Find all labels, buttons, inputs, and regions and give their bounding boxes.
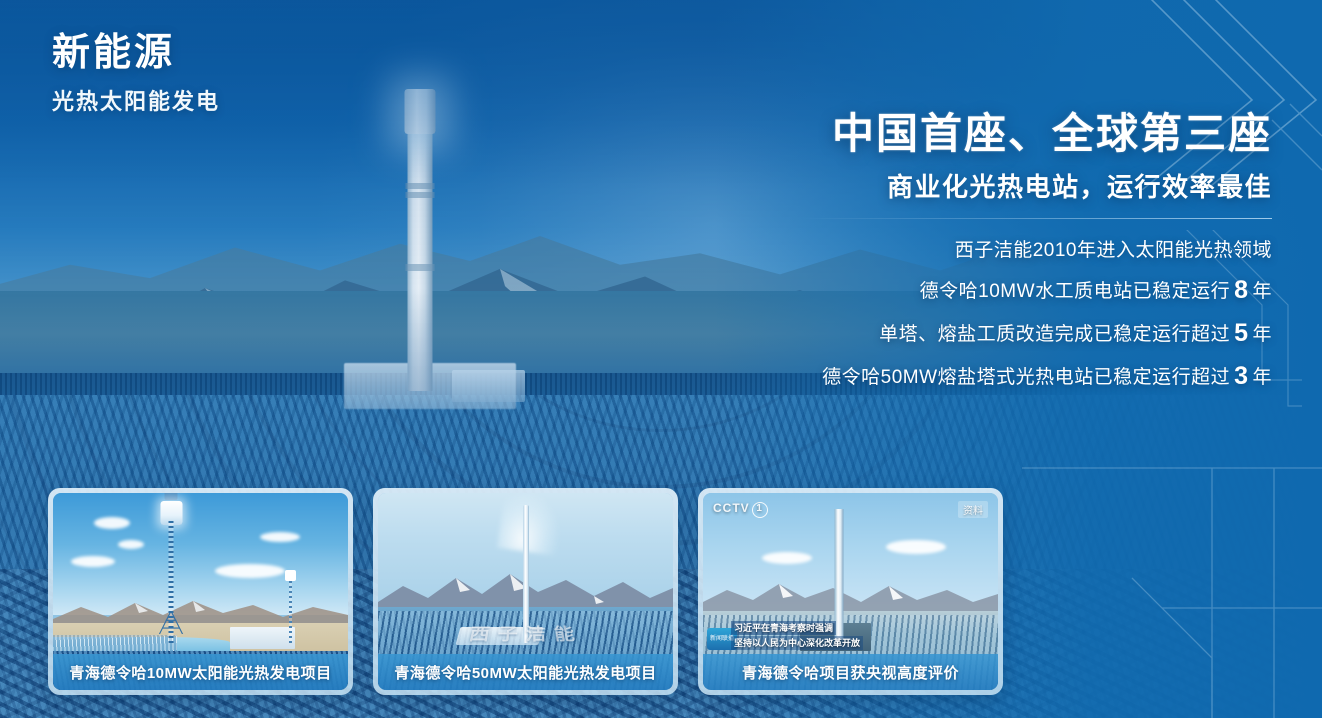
fact-number: 5 bbox=[1230, 319, 1252, 347]
chevron-decoration-bottom-right bbox=[1022, 458, 1322, 718]
photo3-mountains bbox=[703, 576, 998, 615]
fact-item: 单塔、熔盐工质改造完成已稳定运行超过5年 bbox=[632, 312, 1272, 355]
project-card-2-caption: 青海德令哈50MW太阳能光热发电项目 bbox=[378, 654, 673, 690]
photo1-power-block bbox=[230, 627, 295, 649]
fact-text: 德令哈10MW水工质电站已稳定运行 bbox=[920, 281, 1230, 302]
project-card-2-photo: 西子洁能 青海德令哈50MW太阳能光热发电项目 bbox=[378, 493, 673, 690]
slide-title-block: 新能源 光热太阳能发电 bbox=[52, 30, 220, 116]
project-card-3-photo: CCTV1 资料 新闻联播 习近平在青海考察时强调 坚持以人民为中心深化改革开放… bbox=[703, 493, 998, 690]
headline-block: 中国首座、全球第三座 商业化光热电站，运行效率最佳 bbox=[632, 108, 1272, 219]
cctv-lower-third-line2-wrap: 坚持以人民为中心深化改革开放 bbox=[731, 635, 990, 650]
cctv-lower-third: 习近平在青海考察时强调 坚持以人民为中心深化改革开放 bbox=[731, 621, 990, 650]
photo1-tower-main bbox=[169, 521, 174, 643]
photo1-tower-legs bbox=[156, 611, 187, 643]
fact-unit: 年 bbox=[1252, 281, 1272, 302]
project-card-1[interactable]: 青海德令哈10MW太阳能光热发电项目 bbox=[48, 488, 353, 695]
fact-item: 德令哈50MW熔盐塔式光热电站已稳定运行超过3年 bbox=[632, 355, 1272, 398]
fact-number: 3 bbox=[1230, 362, 1252, 390]
fact-number: 8 bbox=[1230, 276, 1252, 304]
photo1-cloud-3 bbox=[71, 556, 115, 567]
page-subtitle: 光热太阳能发电 bbox=[52, 84, 220, 116]
cctv-channel-number: 1 bbox=[752, 502, 768, 518]
fact-item: 西子洁能2010年进入太阳能光热领域 bbox=[632, 232, 1272, 269]
photo3-tower bbox=[834, 509, 843, 639]
cctv-channel-logo: CCTV1 bbox=[713, 501, 768, 518]
fact-list: 西子洁能2010年进入太阳能光热领域德令哈10MW水工质电站已稳定运行8年单塔、… bbox=[632, 232, 1272, 398]
cctv-lower-third-line1-wrap: 习近平在青海考察时强调 bbox=[731, 621, 990, 635]
photo3-cloud-1 bbox=[762, 552, 812, 564]
page-title: 新能源 bbox=[52, 30, 220, 78]
cctv-logo-text: CCTV bbox=[713, 501, 750, 515]
photo1-tower-secondary bbox=[289, 576, 292, 643]
fact-item: 德令哈10MW水工质电站已稳定运行8年 bbox=[632, 269, 1272, 312]
headline-divider bbox=[802, 218, 1272, 219]
project-card-1-caption: 青海德令哈10MW太阳能光热发电项目 bbox=[53, 654, 348, 690]
headline-primary: 中国首座、全球第三座 bbox=[632, 108, 1272, 159]
project-card-list: 青海德令哈10MW太阳能光热发电项目 西子洁能 青海德令哈50MW太 bbox=[48, 488, 1003, 695]
presentation-slide: 新能源 光热太阳能发电 中国首座、全球第三座 商业化光热电站，运行效率最佳 西子… bbox=[0, 0, 1322, 718]
fact-unit: 年 bbox=[1252, 367, 1272, 388]
project-card-3[interactable]: CCTV1 资料 新闻联播 习近平在青海考察时强调 坚持以人民为中心深化改革开放… bbox=[698, 488, 1003, 695]
photo1-cloud-4 bbox=[215, 564, 285, 578]
photo1-cloud-1 bbox=[94, 517, 130, 529]
fact-text: 西子洁能2010年进入太阳能光热领域 bbox=[955, 240, 1272, 261]
fact-text: 德令哈50MW熔盐塔式光热电站已稳定运行超过 bbox=[822, 367, 1230, 388]
project-card-1-photo: 青海德令哈10MW太阳能光热发电项目 bbox=[53, 493, 348, 690]
fact-text: 单塔、熔盐工质改造完成已稳定运行超过 bbox=[879, 324, 1230, 345]
project-card-2[interactable]: 西子洁能 青海德令哈50MW太阳能光热发电项目 bbox=[373, 488, 678, 695]
cctv-lower-third-line2: 坚持以人民为中心深化改革开放 bbox=[731, 636, 863, 650]
photo2-light-plume bbox=[496, 493, 564, 556]
cctv-lower-third-line1: 习近平在青海考察时强调 bbox=[731, 621, 836, 635]
project-card-3-caption: 青海德令哈项目获央视高度评价 bbox=[703, 654, 998, 690]
fact-unit: 年 bbox=[1252, 324, 1272, 345]
cctv-corner-tag: 资料 bbox=[958, 501, 988, 518]
photo2-watermark: 西子洁能 bbox=[395, 621, 656, 645]
headline-secondary: 商业化光热电站，运行效率最佳 bbox=[632, 167, 1272, 204]
photo1-tower-tip bbox=[165, 493, 178, 500]
